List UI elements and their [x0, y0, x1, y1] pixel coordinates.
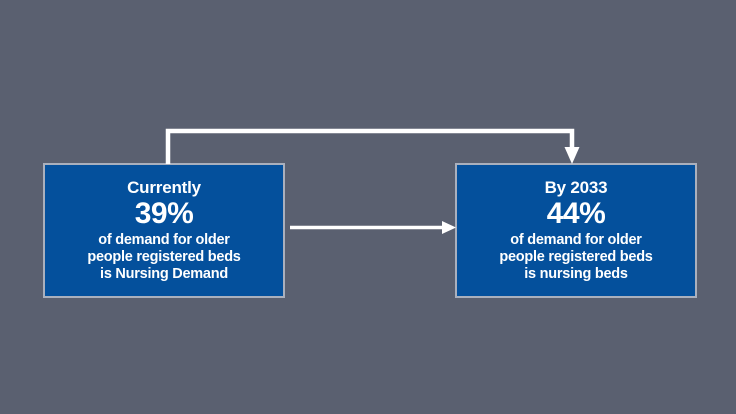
top-elbow-arrow	[168, 131, 580, 164]
stat-box-projected-demand: By 2033 44% of demand for older people r…	[455, 163, 697, 298]
top-elbow-arrow-line	[168, 131, 572, 164]
stat-value: 39%	[135, 198, 194, 230]
stat-description-line-3: is Nursing Demand	[87, 266, 240, 283]
middle-straight-arrow	[290, 221, 456, 234]
stat-box-current-demand: Currently 39% of demand for older people…	[43, 163, 285, 298]
stat-description: of demand for older people registered be…	[499, 232, 652, 283]
infographic-canvas: Currently 39% of demand for older people…	[0, 0, 736, 414]
middle-straight-arrowhead-icon	[442, 221, 456, 234]
top-elbow-arrowhead-icon	[565, 147, 580, 164]
stat-description-line-1: of demand for older	[87, 232, 240, 249]
stat-title: By 2033	[545, 178, 608, 197]
stat-description-line-3: is nursing beds	[499, 266, 652, 283]
stat-description-line-2: people registered beds	[499, 249, 652, 266]
stat-description-line-1: of demand for older	[499, 232, 652, 249]
stat-title: Currently	[127, 178, 201, 197]
stat-description: of demand for older people registered be…	[87, 232, 240, 283]
stat-value: 44%	[547, 198, 606, 230]
stat-description-line-2: people registered beds	[87, 249, 240, 266]
